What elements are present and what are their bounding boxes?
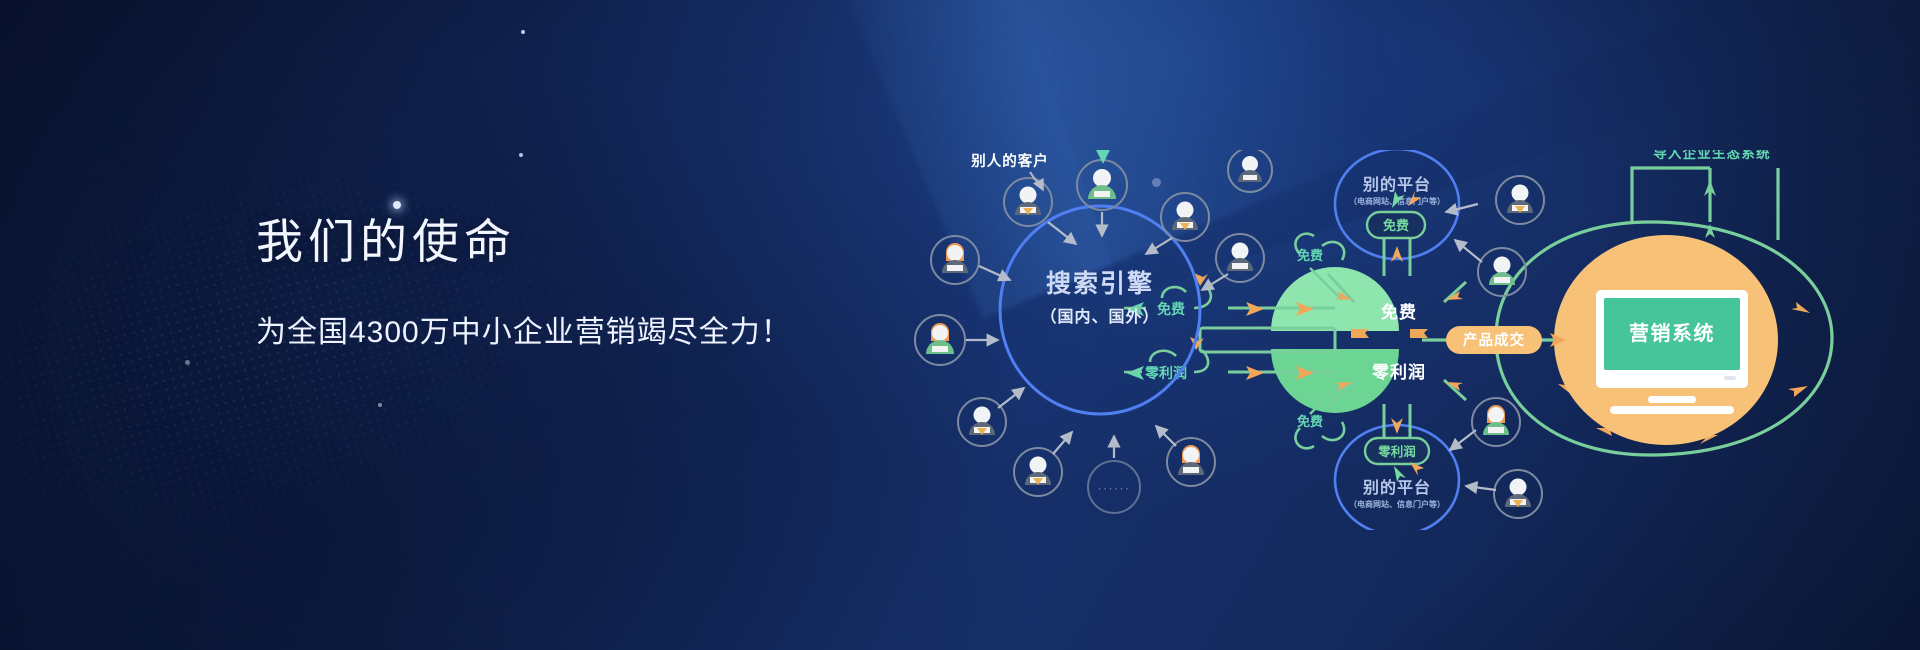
potential-customers-callout: 潜在的客户 <box>1073 150 1151 162</box>
marketing-system-label: 营销系统 <box>1629 321 1715 345</box>
others-customers-callout: 别人的客户 <box>970 152 1049 190</box>
sparkle-dot-1 <box>521 30 525 34</box>
platform-top-title: 别的平台 <box>1362 175 1431 194</box>
avatar-ellipsis-label: ······ <box>1098 481 1131 495</box>
free-badge-hub-lower: 免费 <box>1297 414 1323 429</box>
platform-bottom-subtitle: （电商网站、信息门户等） <box>1349 499 1445 509</box>
avatar-13 <box>1472 398 1520 446</box>
hero-banner: 我们的使命 为全国4300万中小企业营销竭尽全力！ <box>0 0 1920 650</box>
sparkle-dot-5 <box>378 403 382 407</box>
avatar-6 <box>915 315 965 365</box>
avatar-4 <box>931 236 979 284</box>
sparkle-dot-3 <box>393 201 401 209</box>
platform-bottom-badge-label: 零利润 <box>1377 444 1416 459</box>
page-subtitle: 为全国4300万中小企业营销竭尽全力！ <box>256 265 792 351</box>
sparkle-dot-4 <box>185 360 190 365</box>
free-badge-upper: 免费 <box>1157 301 1185 317</box>
avatar-10 <box>1228 150 1272 192</box>
sparkle-dot-2 <box>519 153 523 157</box>
avatar-1 <box>1004 178 1052 226</box>
page-title: 我们的使命 <box>256 218 792 265</box>
hub-top-label: 免费 <box>1381 302 1417 322</box>
avatar-11 <box>1496 176 1544 224</box>
platform-bottom-title: 别的平台 <box>1362 478 1431 497</box>
avatar-8 <box>1014 448 1062 496</box>
search-engine-title: 搜索引擎 <box>1046 270 1154 298</box>
avatar-7 <box>958 398 1006 446</box>
marketing-ecosystem-diagram: 导入企业生态系统 营销系统 产品成交 免费 零利润 <box>910 150 1910 530</box>
others-customers-label: 别人的客户 <box>970 152 1049 170</box>
avatar-2 <box>1077 160 1127 210</box>
avatar-14 <box>1494 470 1542 518</box>
deal-badge-label: 产品成交 <box>1463 331 1525 349</box>
free-badge-hub-upper: 免费 <box>1297 248 1323 263</box>
avatar-5 <box>1216 234 1264 282</box>
import-ecosystem-label: 导入企业生态系统 <box>1653 150 1771 161</box>
avatar-ellipsis: ······ <box>1088 461 1140 513</box>
search-engine-subtitle: （国内、国外） <box>1040 307 1159 326</box>
hub-bottom-label: 零利润 <box>1371 362 1426 382</box>
platform-top-badge-label: 免费 <box>1383 218 1409 233</box>
avatar-3 <box>1161 193 1209 241</box>
hero-copy: 我们的使命 为全国4300万中小企业营销竭尽全力！ <box>256 218 792 351</box>
